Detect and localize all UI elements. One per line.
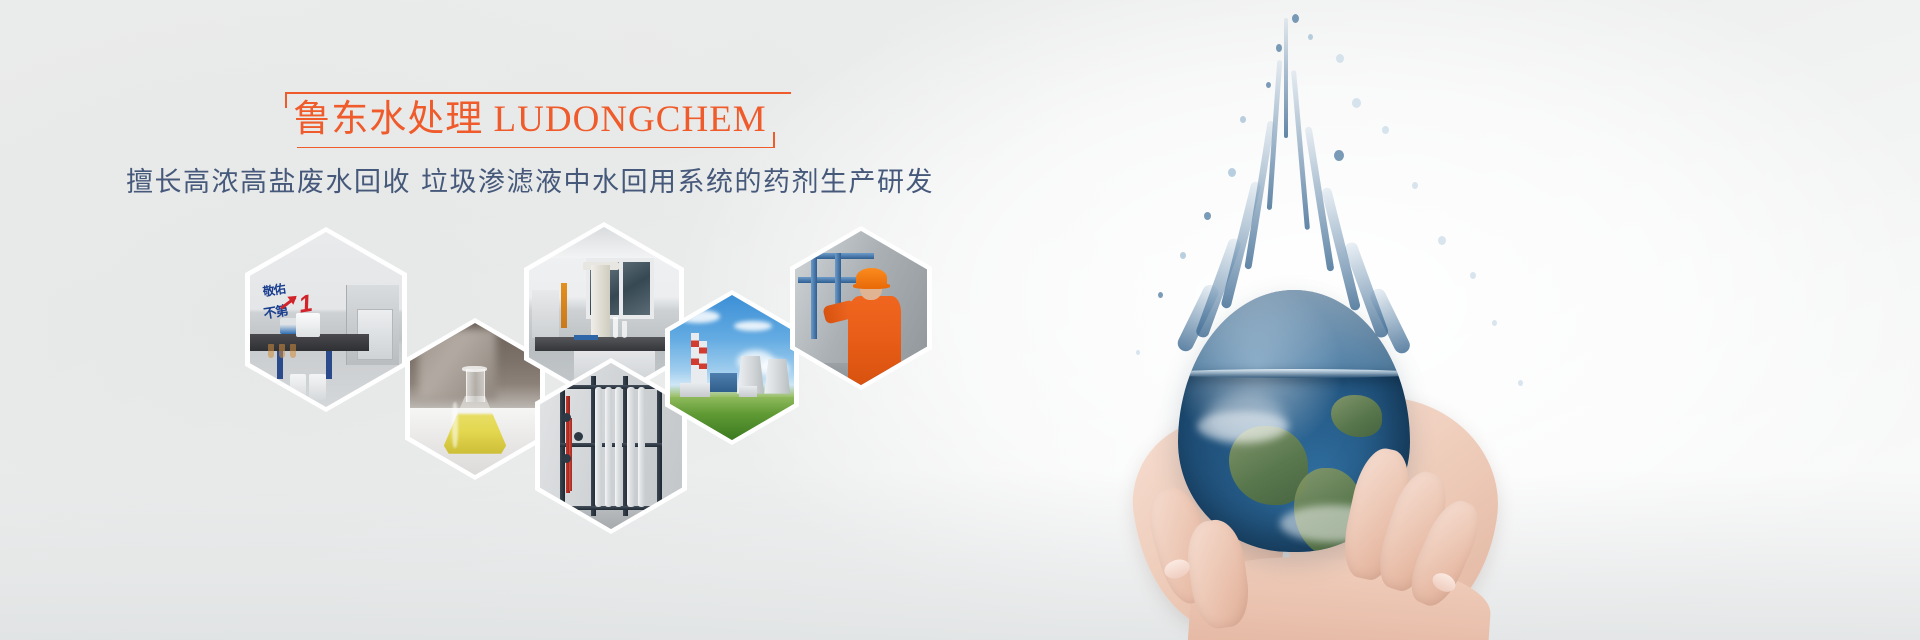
droplet xyxy=(1438,236,1446,245)
hexagon-inner xyxy=(410,323,540,475)
bench-flask xyxy=(290,344,296,358)
safety-helmet xyxy=(856,268,888,288)
hexagon-inner xyxy=(540,363,682,529)
bracket-top-line xyxy=(285,92,790,94)
hero-banner: 鲁东水处理 LUDONGCHEM 擅长高浓高盐废水回收 垃圾渗滤液中水回用系统的… xyxy=(0,0,1920,640)
droplet xyxy=(1292,14,1299,23)
hexagon-photo-membrane-piping-skid[interactable] xyxy=(535,358,687,534)
droplet xyxy=(1334,150,1344,161)
droplet xyxy=(1204,212,1211,220)
hexagon-photo-laboratory-room[interactable]: 敬佑 不第 1 xyxy=(245,227,407,412)
blue-pipe xyxy=(798,277,856,283)
globe-upper-water xyxy=(1178,290,1410,374)
hexagon-photo-worker[interactable] xyxy=(790,226,932,390)
blue-pipe xyxy=(811,253,817,339)
droplet xyxy=(1240,116,1246,123)
droplet xyxy=(1158,292,1163,298)
droplet xyxy=(1180,252,1186,259)
droplet xyxy=(1492,320,1497,326)
photo-yellow-reagent-flask xyxy=(410,323,540,475)
droplet xyxy=(1308,34,1313,40)
droplet xyxy=(1228,168,1236,177)
storage-drum xyxy=(290,374,307,400)
hexagon-inner xyxy=(670,295,794,440)
left-cabinet xyxy=(532,290,559,339)
glassware xyxy=(613,317,618,338)
bracket-bottom-right-tick xyxy=(773,132,775,148)
storage-drum xyxy=(309,374,326,400)
photo-laboratory-room: 敬佑 不第 1 xyxy=(250,232,402,407)
photo-power-plant-cooling-towers xyxy=(670,295,794,440)
lab-bench xyxy=(535,337,673,351)
wall-slogan-line1: 敬佑 xyxy=(262,279,286,299)
membrane-tube xyxy=(638,387,645,507)
droplet xyxy=(1336,54,1344,63)
membrane-tube xyxy=(615,387,622,507)
cooling-tower xyxy=(764,359,790,394)
globe-water-surface-line xyxy=(1178,369,1410,378)
droplet xyxy=(1518,380,1523,386)
photo-membrane-piping-skid xyxy=(540,363,682,529)
banner-text-block: 鲁东水处理 LUDONGCHEM 擅长高浓高盐废水回收 垃圾渗滤液中水回用系统的… xyxy=(0,92,1060,201)
ceiling xyxy=(529,227,679,258)
bracket-bottom-line xyxy=(297,147,774,149)
valve xyxy=(562,413,571,422)
membrane-tube xyxy=(627,387,634,507)
blue-tray xyxy=(574,335,598,340)
droplet xyxy=(1470,272,1476,279)
page-title: 鲁东水处理 LUDONGCHEM xyxy=(293,98,766,142)
valve xyxy=(574,432,583,441)
continent xyxy=(1331,395,1382,437)
bench-leg xyxy=(326,351,332,379)
droplet xyxy=(1352,98,1361,108)
droplet xyxy=(1136,350,1140,355)
droplet xyxy=(1276,44,1282,52)
wall-slogan-number: 1 xyxy=(297,289,315,319)
bench-flask xyxy=(279,344,285,358)
photo-worker-in-orange-coverall xyxy=(795,231,927,385)
banner-title-wrapper: 鲁东水处理 LUDONGCHEM xyxy=(271,92,788,150)
banner-subtitle: 擅长高浓高盐废水回收 垃圾渗滤液中水回用系统的药剂生产研发 xyxy=(0,165,1060,201)
cloud xyxy=(734,321,771,331)
green-field xyxy=(670,397,794,441)
worker-body xyxy=(848,296,901,385)
splash-spike xyxy=(1291,70,1310,230)
glassware xyxy=(622,321,627,338)
droplet xyxy=(1382,126,1389,134)
droplet xyxy=(1266,82,1271,88)
water-globe-artwork xyxy=(1040,0,1600,640)
frame-rail-horizontal xyxy=(560,506,662,510)
hexagon-inner: 敬佑 不第 1 xyxy=(250,232,402,407)
bench-flask xyxy=(268,344,274,358)
flask-lip xyxy=(462,366,487,372)
flask-highlight xyxy=(452,402,459,448)
droplet xyxy=(1412,182,1418,189)
plant-building xyxy=(739,386,756,396)
membrane-tube xyxy=(595,387,602,507)
plant-building xyxy=(680,383,710,396)
flask-neck xyxy=(466,369,485,402)
globe-specular-highlight xyxy=(1206,395,1285,442)
membrane-tube xyxy=(605,387,612,507)
orange-column xyxy=(561,283,567,328)
wall-slogan: 敬佑 不第 1 xyxy=(259,272,335,328)
splash-spike xyxy=(1284,18,1288,138)
hexagon-inner xyxy=(795,231,927,385)
skid-frame xyxy=(560,376,662,515)
plant-building-blue xyxy=(710,373,737,392)
bracket-top-left-tick xyxy=(285,92,287,108)
